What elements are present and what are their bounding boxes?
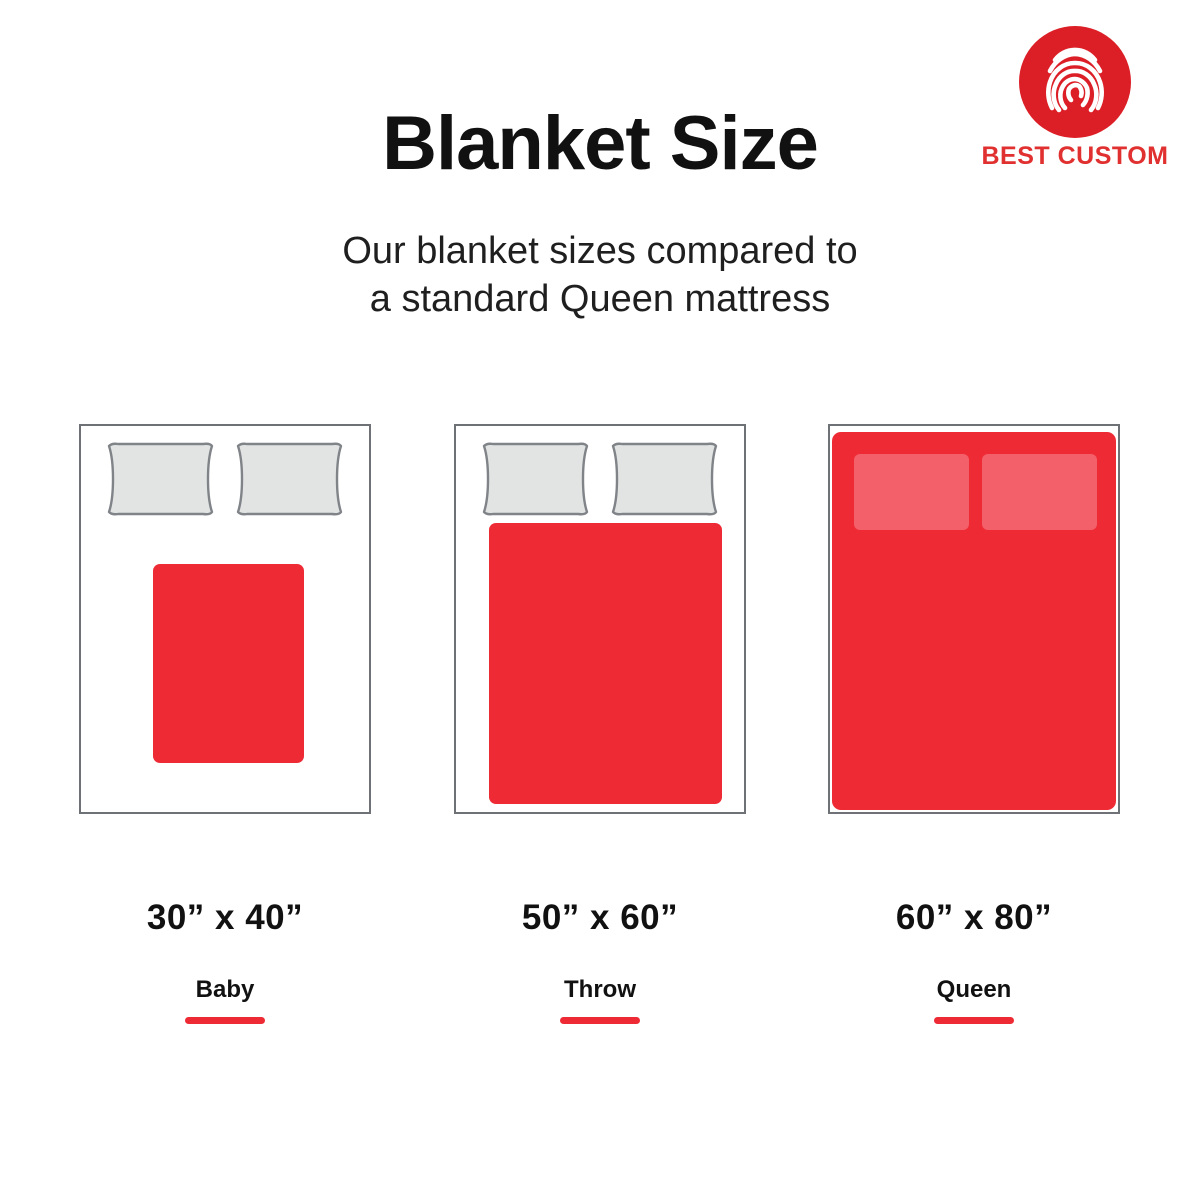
pillow-icon [982,454,1097,530]
blanket-dimensions: 50” x 60” [454,900,746,935]
bed-diagram-baby [79,424,371,814]
caption-queen: 60” x 80” Queen [828,900,1120,1024]
blanket-dimensions: 30” x 40” [79,900,371,935]
blanket-overlay-throw [489,523,722,804]
page-title: Blanket Size [0,104,1200,184]
blanket-overlay-baby [153,564,304,763]
bed-diagram-queen [828,424,1120,814]
pillow-icon [477,440,594,518]
bed-comparison-row [0,424,1200,814]
blanket-name: Queen [828,978,1120,1002]
accent-underline [185,1017,265,1024]
bed-diagram-throw [454,424,746,814]
pillow-group [456,440,744,520]
accent-underline [560,1017,640,1024]
blanket-dimensions: 60” x 80” [828,900,1120,935]
subtitle-line-1: Our blanket sizes compared to [0,228,1200,276]
pillow-group [81,440,369,520]
subtitle-line-2: a standard Queen mattress [0,276,1200,324]
accent-underline [934,1017,1014,1024]
page-subtitle: Our blanket sizes compared to a standard… [0,228,1200,323]
caption-baby: 30” x 40” Baby [79,900,371,1024]
pillow-icon [102,440,219,518]
blanket-overlay-queen [832,432,1116,810]
caption-throw: 50” x 60” Throw [454,900,746,1024]
pillow-icon [854,454,969,530]
blanket-name: Throw [454,978,746,1002]
pillow-icon [231,440,348,518]
blanket-name: Baby [79,978,371,1002]
pillow-icon [606,440,723,518]
caption-row: 30” x 40” Baby 50” x 60” Throw 60” x 80”… [0,900,1200,1040]
